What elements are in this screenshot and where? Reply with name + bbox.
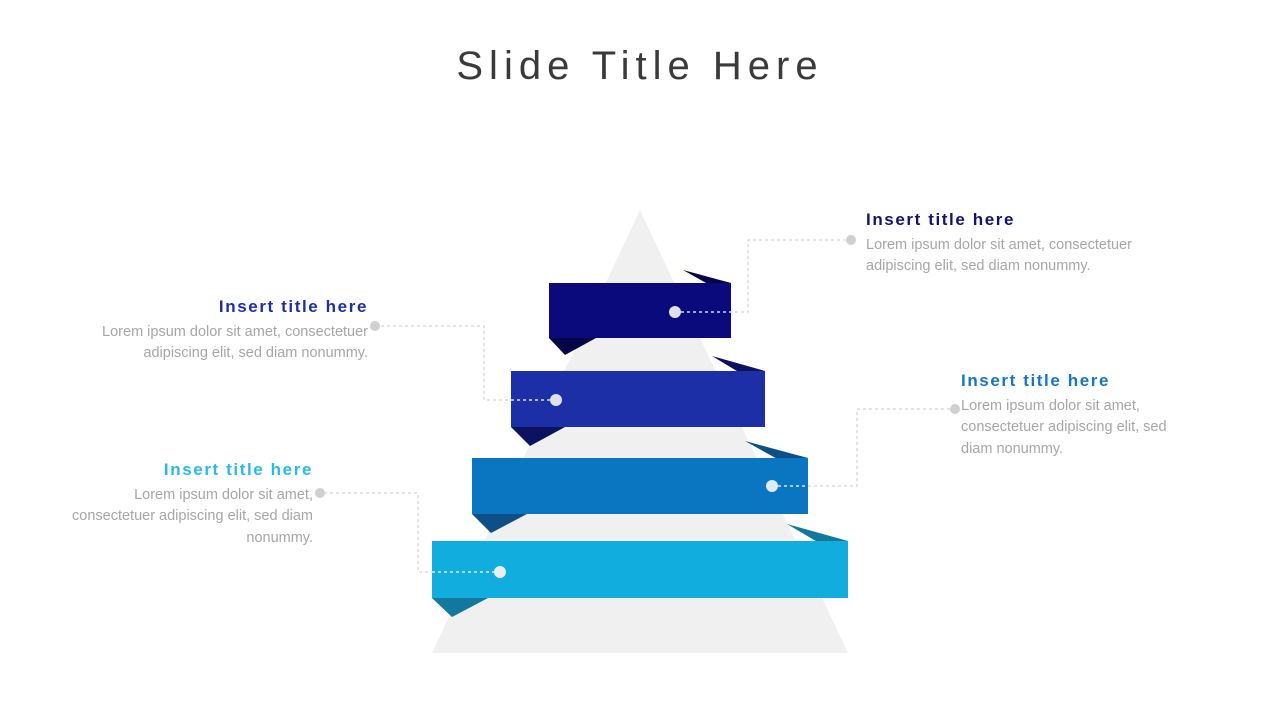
callout-level-2-body: Lorem ipsum dolor sit amet, consectetuer…	[48, 322, 368, 365]
text-dot-1[interactable]	[846, 235, 856, 245]
band-dot-3[interactable]	[766, 480, 778, 492]
text-dot-2[interactable]	[370, 321, 380, 331]
callout-level-4-title: Insert title here	[60, 460, 313, 480]
level-3-band	[472, 458, 808, 514]
callout-level-3-body: Lorem ipsum dolor sit amet, consectetuer…	[961, 396, 1201, 460]
callout-level-4[interactable]: Insert title here Lorem ipsum dolor sit …	[60, 460, 313, 549]
level-1-band	[549, 283, 731, 338]
band-dot-2[interactable]	[550, 394, 562, 406]
callout-level-2-title: Insert title here	[48, 297, 368, 317]
text-dot-4[interactable]	[315, 488, 325, 498]
band-dot-4[interactable]	[494, 566, 506, 578]
callout-level-1-body: Lorem ipsum dolor sit amet, consectetuer…	[866, 235, 1186, 278]
callout-level-2[interactable]: Insert title here Lorem ipsum dolor sit …	[48, 297, 368, 365]
level-4-band	[432, 541, 848, 598]
callout-level-3-title: Insert title here	[961, 371, 1201, 391]
band-dot-1[interactable]	[669, 306, 681, 318]
callout-level-1-title: Insert title here	[866, 210, 1186, 230]
callout-level-1[interactable]: Insert title here Lorem ipsum dolor sit …	[866, 210, 1186, 278]
level-2-band	[511, 371, 765, 427]
text-dot-3[interactable]	[950, 404, 960, 414]
callout-level-3[interactable]: Insert title here Lorem ipsum dolor sit …	[961, 371, 1201, 460]
callout-level-4-body: Lorem ipsum dolor sit amet, consectetuer…	[60, 485, 313, 549]
